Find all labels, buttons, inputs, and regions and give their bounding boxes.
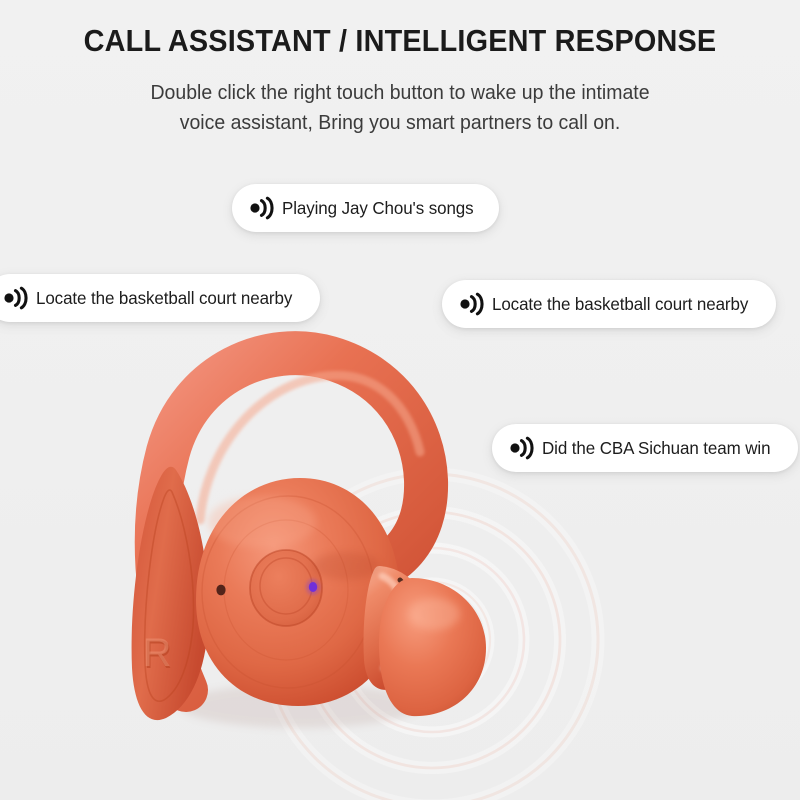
sound-wave-icon: [459, 292, 485, 316]
voice-command-bubble-playing[interactable]: Playing Jay Chou's songs: [232, 184, 499, 232]
microphone-hole: [216, 585, 225, 596]
voice-command-text: Did the CBA Sichuan team win: [542, 438, 770, 459]
sound-wave-icon: [3, 286, 29, 310]
sound-wave-icon: [509, 436, 535, 460]
sound-wave-icon: [249, 196, 275, 220]
voice-command-text: Locate the basketball court nearby: [492, 294, 748, 315]
voice-command-bubble-locate-right[interactable]: Locate the basketball court nearby: [442, 280, 776, 328]
promo-page: CALL ASSISTANT / INTELLIGENT RESPONSE Do…: [0, 0, 800, 800]
voice-command-bubble-cba[interactable]: Did the CBA Sichuan team win: [492, 424, 798, 472]
voice-command-text: Locate the basketball court nearby: [36, 288, 292, 309]
earbud-illustration: R R: [0, 0, 800, 800]
voice-command-text: Playing Jay Chou's songs: [282, 198, 474, 219]
status-led-glow: [306, 579, 320, 595]
side-marking-highlight: R: [143, 631, 172, 675]
voice-command-bubble-locate-left[interactable]: Locate the basketball court nearby: [0, 274, 320, 322]
